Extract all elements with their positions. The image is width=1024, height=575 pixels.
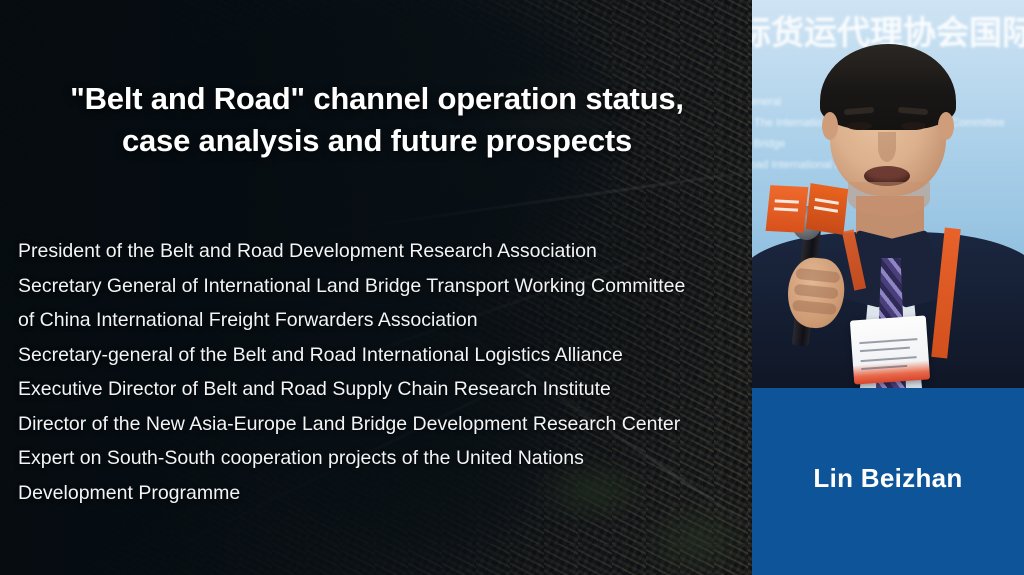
slide-title: "Belt and Road" channel operation status… xyxy=(8,78,746,162)
bio-line: Secretary-general of the Belt and Road I… xyxy=(18,338,748,373)
speaker-panel: 际货运代理协会国际陆桥 General of The International… xyxy=(752,0,1024,575)
eye-right xyxy=(901,122,926,130)
bio-line: Development Programme xyxy=(18,476,748,511)
speaker-bio-list: President of the Belt and Road Developme… xyxy=(18,234,748,510)
eye-left xyxy=(847,122,872,130)
bio-line: Secretary General of International Land … xyxy=(18,269,748,304)
bio-line: Director of the New Asia-Europe Land Bri… xyxy=(18,407,748,442)
slide-title-line-1: "Belt and Road" channel operation status… xyxy=(8,78,746,120)
bio-line: Expert on South-South cooperation projec… xyxy=(18,441,748,476)
speaker-name: Lin Beizhan xyxy=(813,463,962,494)
speaker-name-plate: Lin Beizhan xyxy=(752,388,1024,575)
chin xyxy=(848,182,930,216)
conference-badge xyxy=(850,315,930,384)
ear-left xyxy=(822,112,838,140)
microphone-flag-right xyxy=(806,183,848,235)
presentation-slide: "Belt and Road" channel operation status… xyxy=(0,0,1024,575)
speaker-photo: 际货运代理协会国际陆桥 General of The International… xyxy=(752,0,1024,388)
nose xyxy=(878,132,896,162)
slide-title-line-2: case analysis and future prospects xyxy=(8,120,746,162)
bio-line: Executive Director of Belt and Road Supp… xyxy=(18,372,748,407)
bio-line: of China International Freight Forwarder… xyxy=(18,303,748,338)
ear-right xyxy=(938,112,954,140)
microphone-flag-left xyxy=(766,185,809,233)
bio-line: President of the Belt and Road Developme… xyxy=(18,234,748,269)
